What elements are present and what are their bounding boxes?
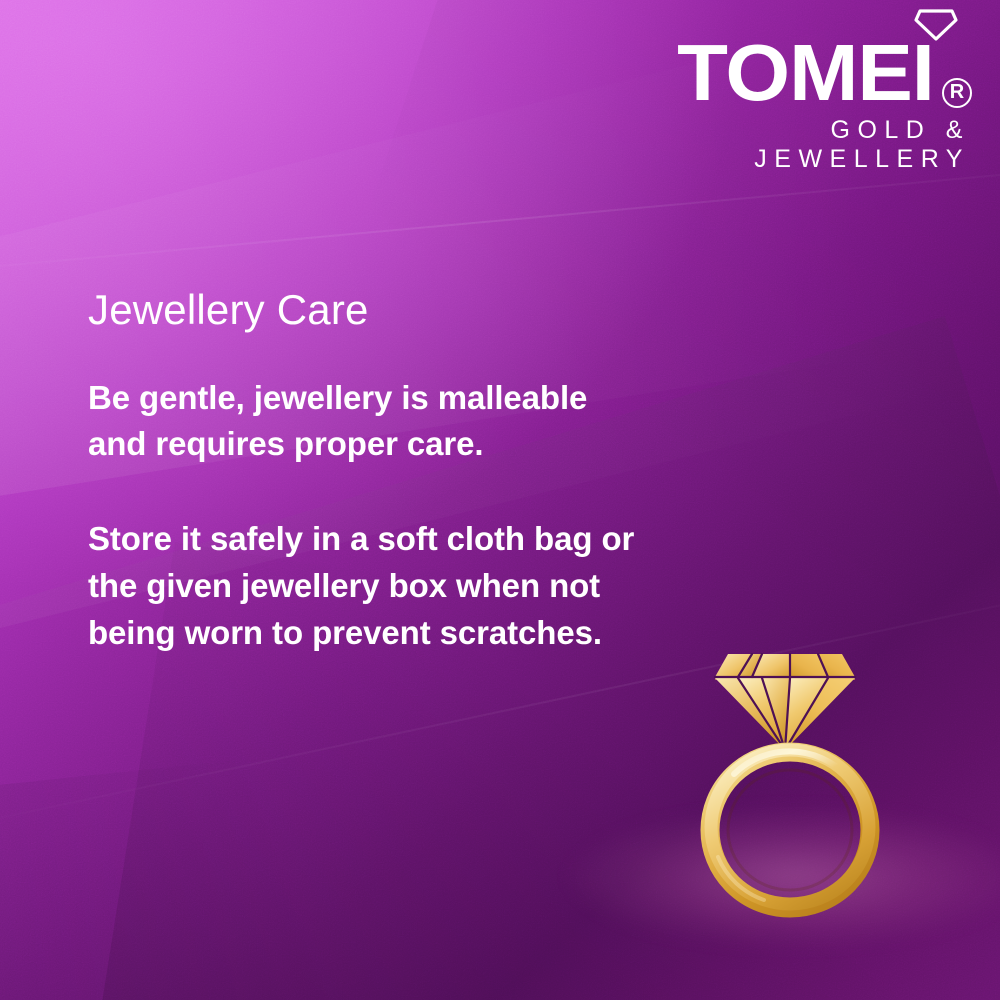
ring-svg (690, 632, 890, 922)
brand-logo: TOMEI R GOLD & JEWELLERY (636, 6, 976, 174)
wordmark-row: TOMEI R (636, 36, 976, 110)
jewellery-care-card: TOMEI R GOLD & JEWELLERY Jewellery Care … (0, 0, 1000, 1000)
ring-band-icon (710, 750, 870, 908)
diamond-ring-illustration (690, 632, 890, 922)
care-paragraph-2: Store it safely in a soft cloth bag or t… (88, 516, 648, 657)
brand-subtitle: GOLD & JEWELLERY (636, 116, 976, 174)
brand-wordmark: TOMEI (677, 36, 934, 110)
copy-block: Jewellery Care Be gentle, jewellery is m… (88, 288, 688, 657)
registered-trademark-icon: R (942, 78, 972, 108)
diamond-gem-icon (715, 654, 855, 750)
care-paragraph-1: Be gentle, jewellery is malleable and re… (88, 375, 648, 469)
page-title: Jewellery Care (88, 288, 688, 333)
background-facet-bottom-left (0, 714, 725, 1000)
